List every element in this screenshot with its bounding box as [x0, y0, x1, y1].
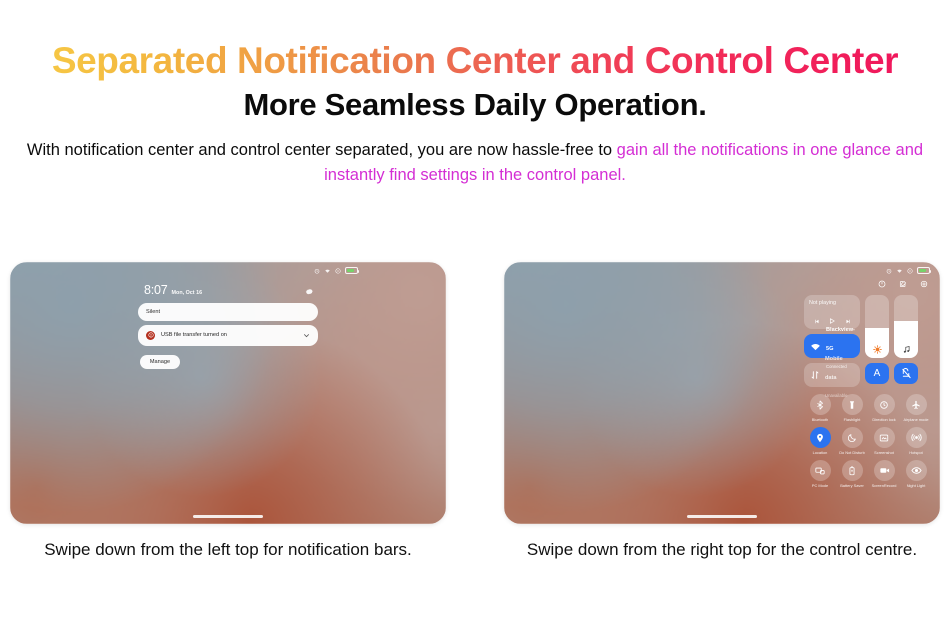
shade-header: 8:07 Mon, Oct 16 — [138, 284, 318, 297]
previous-icon[interactable] — [813, 312, 820, 330]
screen-record-icon — [874, 460, 895, 481]
control-center-panel: Not playing — [804, 280, 932, 488]
battery-saver-icon — [842, 460, 863, 481]
mute-button[interactable] — [894, 363, 918, 384]
quick-setting-screenshot[interactable]: Screenshot — [868, 427, 900, 455]
tablet-control-center: Not playing — [504, 262, 940, 524]
battery-icon — [917, 267, 930, 274]
control-center-toolbar — [804, 280, 932, 288]
quick-setting-bluetooth[interactable]: Bluetooth — [804, 394, 836, 422]
quick-setting-screen-record[interactable]: ScreenRecord — [868, 460, 900, 488]
shade-date: Mon, Oct 16 — [172, 291, 203, 296]
home-indicator — [687, 515, 757, 518]
status-bar-left — [314, 267, 358, 274]
hotspot-icon — [906, 427, 927, 448]
alarm-icon — [314, 268, 320, 274]
wifi-icon — [324, 268, 331, 274]
shade-clock: 8:07 — [144, 284, 168, 297]
quick-setting-direction-lock[interactable]: Direction lock — [868, 394, 900, 422]
wifi-icon — [896, 268, 903, 274]
bluetooth-icon — [810, 394, 831, 415]
volume-slider[interactable] — [894, 295, 918, 358]
quick-setting-do-not-disturb[interactable]: Do Not Disturb — [836, 427, 868, 455]
page-title: Separated Notification Center and Contro… — [52, 42, 898, 81]
brightness-slider[interactable] — [865, 295, 889, 358]
caption-row: Swipe down from the left top for notific… — [0, 538, 950, 563]
quick-setting-airplane-mode[interactable]: Airplane mode — [900, 394, 932, 422]
tablet-notification-center: 8:07 Mon, Oct 16 Silent USB file transfe… — [10, 262, 446, 524]
music-note-icon — [902, 345, 911, 354]
clock-row: 8:07 Mon, Oct 16 — [144, 284, 202, 297]
quick-setting-night-light[interactable]: Night Light — [900, 460, 932, 488]
rotation-lock-icon — [874, 394, 895, 415]
quick-setting-location[interactable]: Location — [804, 427, 836, 455]
silent-label: Silent — [146, 309, 160, 315]
location-pin-icon — [810, 427, 831, 448]
quick-settings-grid: Bluetooth Flashlight Direction lock — [804, 394, 932, 488]
page-subtitle: More Seamless Daily Operation. — [0, 88, 950, 122]
mobile-data-icon — [810, 370, 820, 380]
tablet-gallery: 8:07 Mon, Oct 16 Silent USB file transfe… — [0, 262, 950, 524]
control-center-upper: Not playing — [804, 295, 932, 387]
control-center-tiles: Not playing — [804, 295, 860, 387]
mobile-data-label: Mobile data — [825, 356, 843, 380]
notification-item-usb[interactable]: USB file transfer turned on — [138, 325, 318, 346]
night-light-icon — [906, 460, 927, 481]
dnd-icon — [335, 268, 341, 274]
mute-icon — [901, 368, 912, 379]
brightness-column: A — [865, 295, 889, 387]
airplane-icon — [906, 394, 927, 415]
auto-rotate-button[interactable]: A — [865, 363, 889, 384]
quick-setting-flashlight[interactable]: Flashlight — [836, 394, 868, 422]
chevron-down-icon[interactable] — [303, 332, 310, 339]
brightness-fill — [865, 328, 889, 358]
description-plain: With notification center and control cen… — [27, 141, 617, 159]
screenshot-icon — [874, 427, 895, 448]
alarm-icon — [886, 268, 892, 274]
manage-button[interactable]: Manage — [140, 355, 180, 369]
pc-mode-icon — [810, 460, 831, 481]
moon-icon — [842, 427, 863, 448]
dnd-icon — [907, 268, 913, 274]
usb-icon — [146, 331, 155, 340]
quick-setting-hotspot[interactable]: Hotspot — [900, 427, 932, 455]
silent-mode-card[interactable]: Silent — [138, 303, 318, 321]
quick-setting-battery-saver[interactable]: Battery Saver — [836, 460, 868, 488]
caption-left: Swipe down from the left top for notific… — [10, 538, 446, 563]
description-paragraph: With notification center and control cen… — [20, 138, 930, 188]
edit-icon[interactable] — [899, 280, 907, 288]
wifi-icon — [810, 341, 821, 352]
flashlight-icon — [842, 394, 863, 415]
brightness-icon — [873, 345, 882, 354]
notification-text: USB file transfer turned on — [161, 332, 297, 338]
header-block: Separated Notification Center and Contro… — [0, 0, 950, 122]
gear-icon[interactable] — [304, 287, 314, 297]
quick-setting-pc-mode[interactable]: PC Mode — [804, 460, 836, 488]
caption-right: Swipe down from the right top for the co… — [504, 538, 940, 563]
status-bar-right — [886, 267, 930, 274]
home-indicator — [193, 515, 263, 518]
gear-icon[interactable] — [920, 280, 928, 288]
volume-column — [894, 295, 918, 387]
volume-fill — [894, 321, 918, 358]
power-icon[interactable] — [878, 280, 886, 288]
battery-icon — [345, 267, 358, 274]
mobile-data-tile[interactable]: Mobile data Unavailable — [804, 363, 860, 387]
notification-shade: 8:07 Mon, Oct 16 Silent USB file transfe… — [138, 284, 318, 369]
media-title: Not playing — [809, 300, 856, 306]
